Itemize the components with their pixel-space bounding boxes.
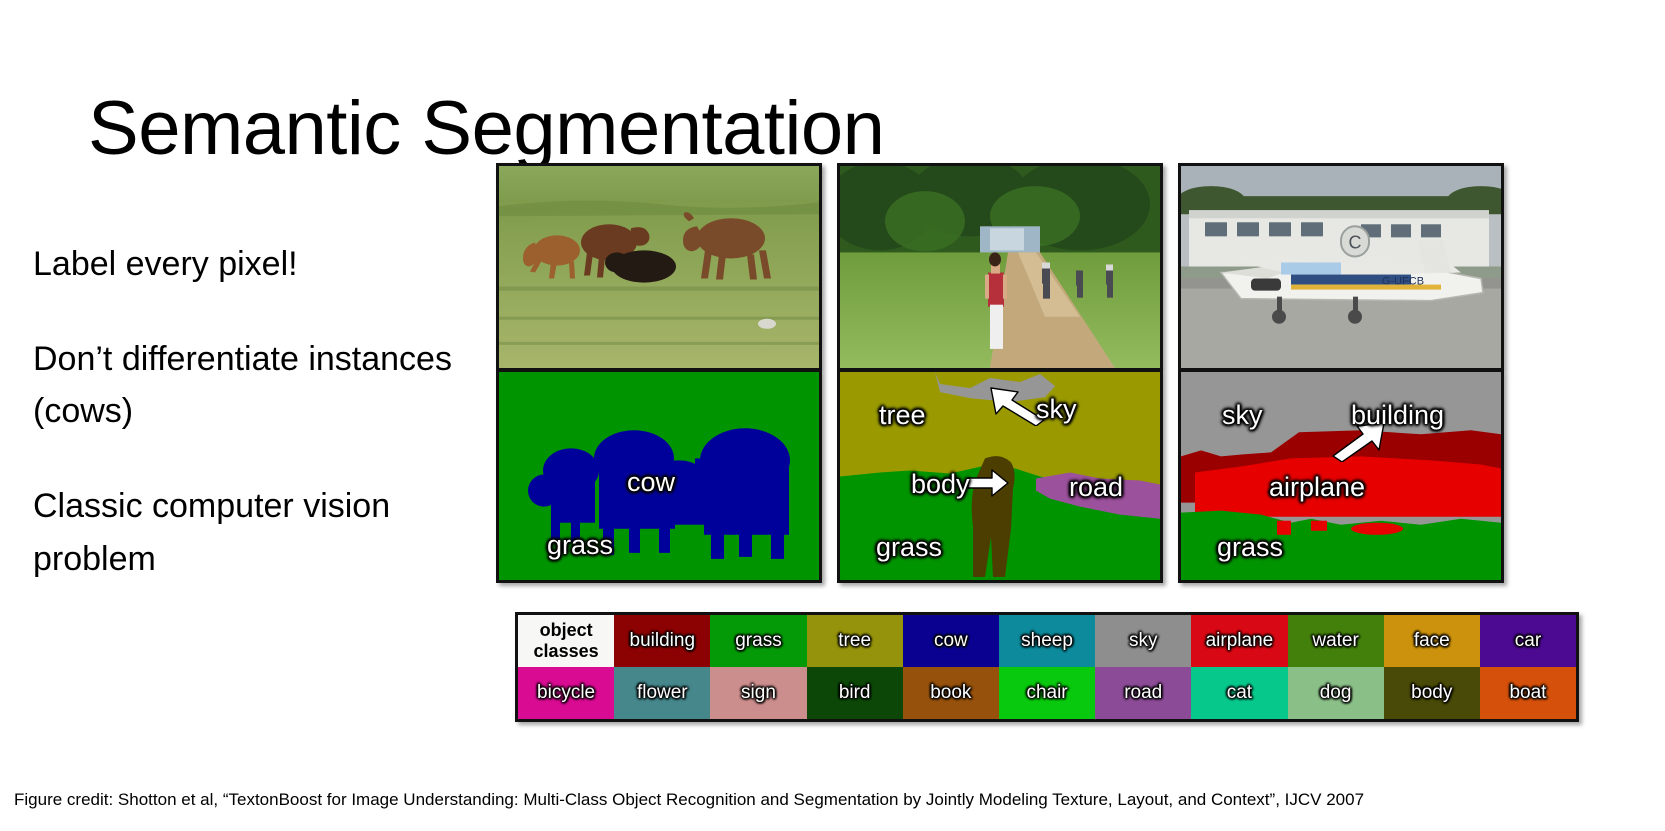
seg-label-grass: grass [547, 530, 613, 561]
legend-cell-book[interactable]: book [903, 667, 999, 719]
legend-cell-road[interactable]: road [1095, 667, 1191, 719]
svg-text:G-UFCB: G-UFCB [1382, 276, 1424, 288]
legend-cell-car[interactable]: car [1480, 615, 1576, 667]
bullet-list: Label every pixel! Don’t differentiate i… [33, 238, 453, 585]
bullet-item-2: Don’t differentiate instances (cows) [33, 333, 453, 438]
figure-column-airplane: C [1178, 163, 1504, 583]
legend-header-line2: classes [534, 641, 599, 662]
legend-cell-boat[interactable]: boat [1480, 667, 1576, 719]
seg-label-grass: grass [876, 532, 942, 563]
legend-cell-water[interactable]: water [1288, 615, 1384, 667]
seg-label-sky: sky [1222, 400, 1263, 431]
legend-cell-airplane[interactable]: airplane [1191, 615, 1287, 667]
seg-label-cow: cow [627, 467, 675, 498]
svg-text:C: C [1349, 232, 1362, 252]
legend-row-2: bicycle flower sign bird book chair road… [518, 667, 1576, 719]
seg-label-sky: sky [1036, 394, 1077, 425]
seg-label-building: building [1351, 400, 1444, 431]
seg-label-grass: grass [1217, 532, 1283, 563]
bullet-item-3: Classic computer vision problem [33, 480, 453, 585]
legend-cell-sky[interactable]: sky [1095, 615, 1191, 667]
seg-label-tree: tree [879, 400, 926, 431]
legend-cell-grass[interactable]: grass [710, 615, 806, 667]
seg-label-airplane: airplane [1269, 472, 1365, 503]
legend-cell-face[interactable]: face [1384, 615, 1480, 667]
legend-header-line1: object [540, 620, 593, 641]
legend-cell-cow[interactable]: cow [903, 615, 999, 667]
segmentation-map-person: tree sky body road grass [837, 370, 1163, 583]
legend-row-1: object classes building grass tree cow s… [518, 615, 1576, 667]
legend-cell-bird[interactable]: bird [807, 667, 903, 719]
figure-column-person: tree sky body road grass [837, 163, 1163, 583]
legend-cell-sign[interactable]: sign [710, 667, 806, 719]
legend-cell-building[interactable]: building [614, 615, 710, 667]
legend-header-cell: object classes [518, 615, 614, 667]
legend-cell-cat[interactable]: cat [1191, 667, 1287, 719]
photo-person-path [837, 163, 1163, 370]
bullet-item-1: Label every pixel! [33, 238, 453, 291]
seg-label-body: body [911, 469, 970, 500]
legend-cell-sheep[interactable]: sheep [999, 615, 1095, 667]
legend-cell-bicycle[interactable]: bicycle [518, 667, 614, 719]
object-classes-legend: object classes building grass tree cow s… [515, 612, 1579, 722]
photo-cows [496, 163, 822, 370]
figure-column-cows: cow grass [496, 163, 822, 583]
segmentation-map-airplane: sky building airplane grass [1178, 370, 1504, 583]
photo-airplane: C [1178, 163, 1504, 370]
segmentation-map-cows: cow grass [496, 370, 822, 583]
arrow-to-body-icon [966, 468, 1010, 498]
page-title: Semantic Segmentation [88, 89, 884, 169]
legend-cell-tree[interactable]: tree [807, 615, 903, 667]
legend-cell-dog[interactable]: dog [1288, 667, 1384, 719]
legend-cell-body[interactable]: body [1384, 667, 1480, 719]
legend-cell-chair[interactable]: chair [999, 667, 1095, 719]
seg-label-road: road [1069, 472, 1123, 503]
figure-credit: Figure credit: Shotton et al, “TextonBoo… [14, 790, 1364, 810]
legend-cell-flower[interactable]: flower [614, 667, 710, 719]
